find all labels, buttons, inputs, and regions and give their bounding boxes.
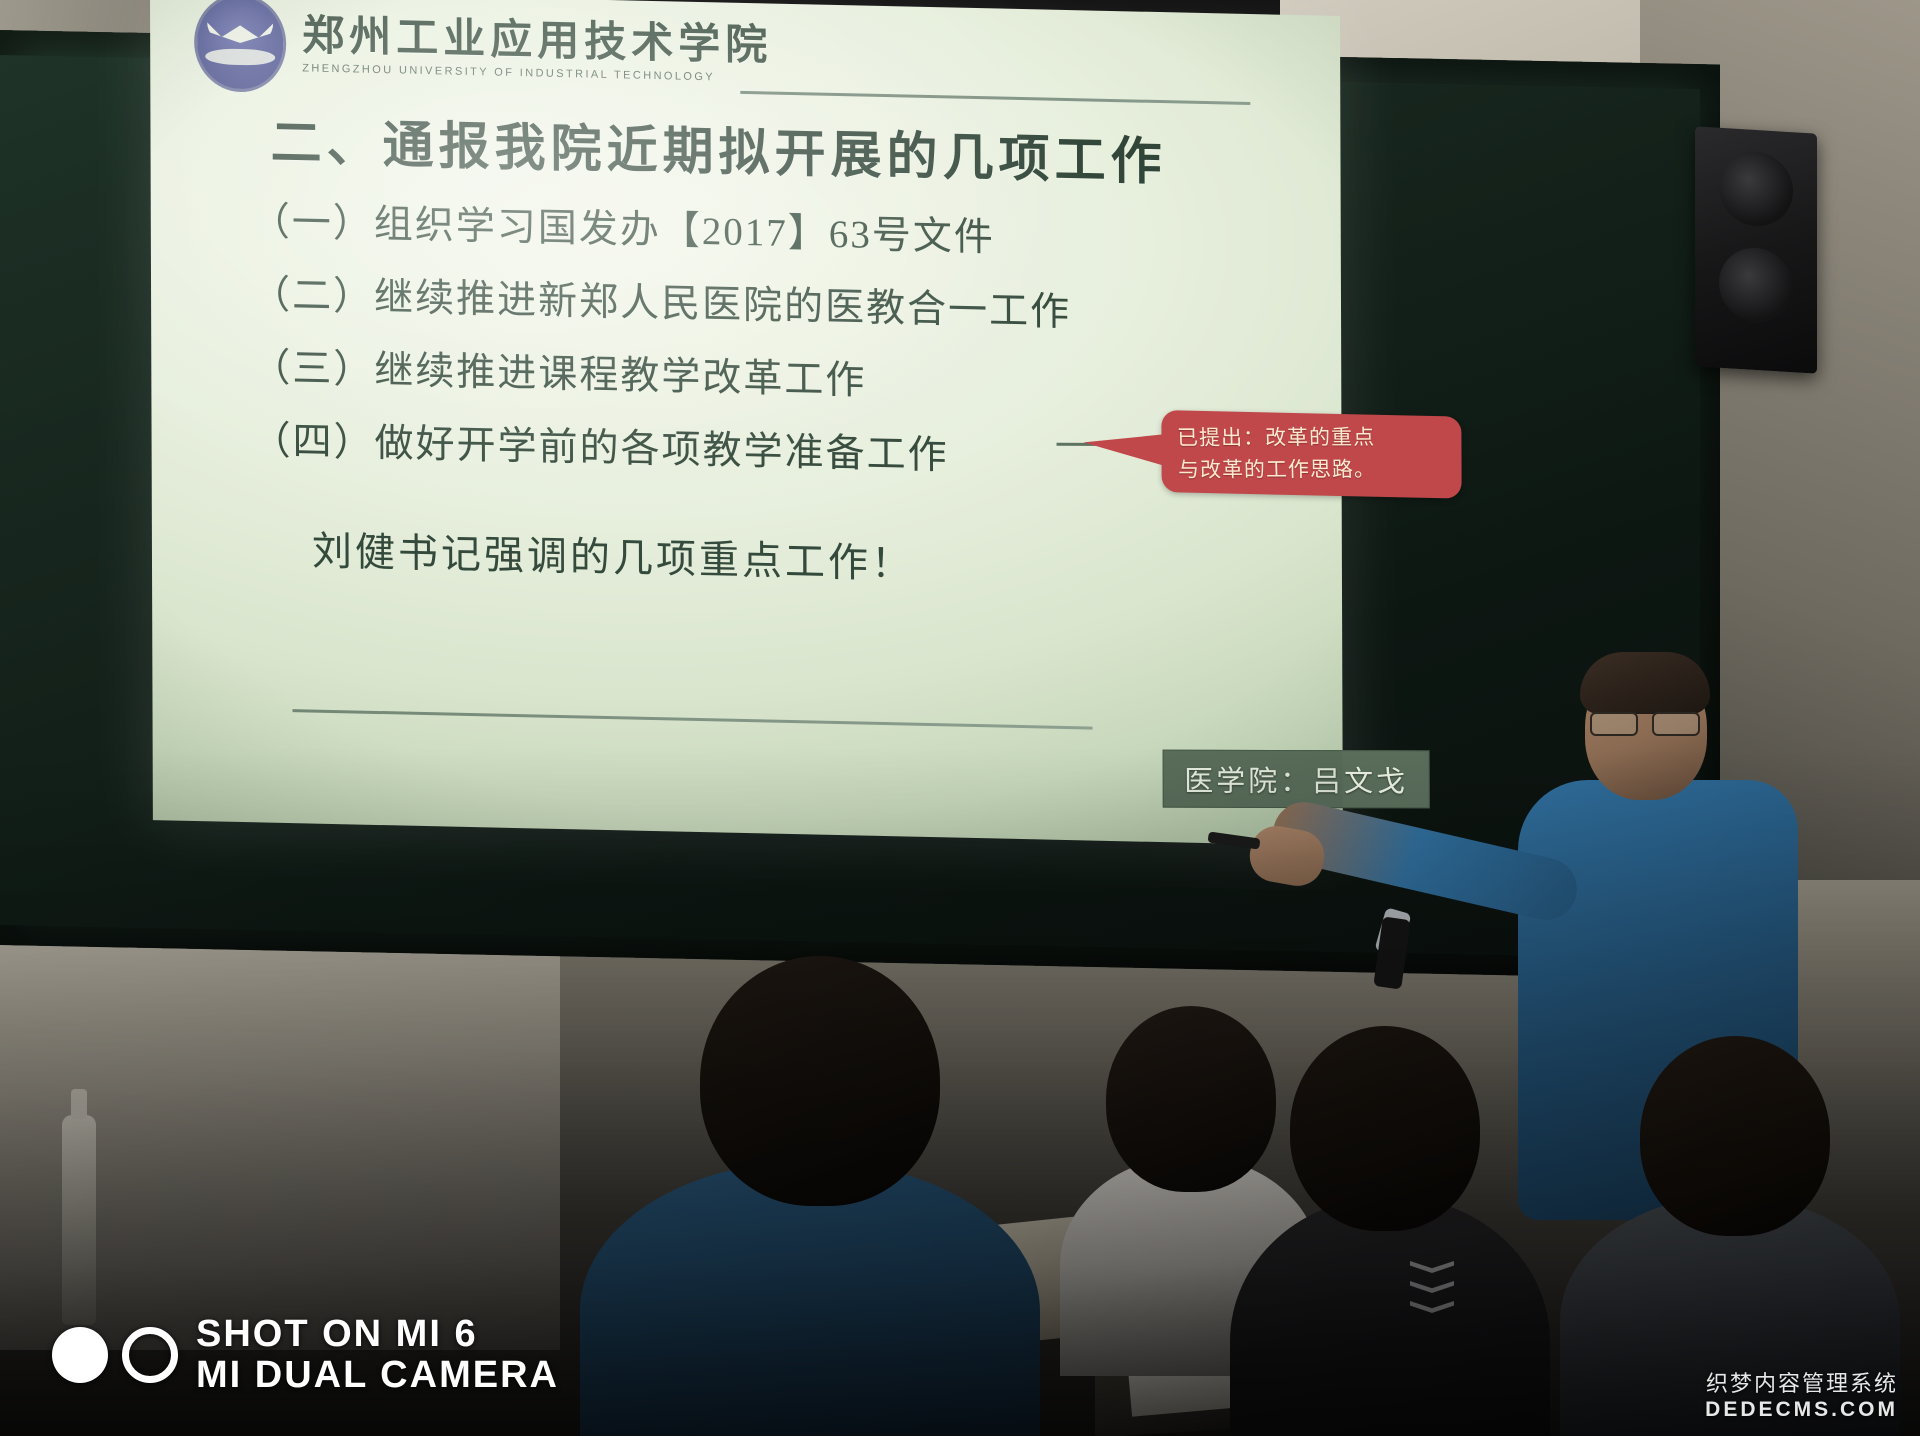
slide-closing-line: 刘健书记强调的几项重点工作！ xyxy=(312,519,914,590)
shot-on-line-2: MI DUAL CAMERA xyxy=(196,1355,559,1396)
eyeglasses-icon xyxy=(1590,712,1700,732)
slide-bullet-list: （一）组织学习国发办【2017】63号文件 （二）继续推进新郑人民医院的医教合一… xyxy=(251,202,1252,516)
university-seal-icon xyxy=(194,0,286,93)
projection-screen: 郑州工业应用技术学院 ZHENGZHOU UNIVERSITY OF INDUS… xyxy=(150,0,1343,846)
shot-on-text: SHOT ON MI 6 MI DUAL CAMERA xyxy=(196,1314,559,1396)
presenter-hair xyxy=(1580,652,1710,714)
chevron-pattern-icon xyxy=(1410,1261,1464,1331)
callout-tail xyxy=(1083,432,1165,466)
signature-plate: 医学院：吕文戈 xyxy=(1163,750,1430,809)
water-bottle xyxy=(62,1115,96,1325)
institution-name-cn: 郑州工业应用技术学院 xyxy=(302,15,772,69)
camera-lens-filled-icon xyxy=(52,1327,108,1383)
footer-divider xyxy=(292,709,1092,729)
callout-text: 已提出：改革的重点 与改革的工作思路。 xyxy=(1177,422,1453,486)
shot-on-line-1: SHOT ON MI 6 xyxy=(196,1314,559,1355)
audience-member-3 xyxy=(1230,1026,1550,1436)
audience-torso xyxy=(1230,1196,1550,1436)
audience-head xyxy=(700,956,940,1206)
callout-line-2: 与改革的工作思路。 xyxy=(1178,454,1453,486)
slide-bullet-2: （二）继续推进新郑人民医院的医教合一工作 xyxy=(251,275,1251,336)
header-divider xyxy=(740,91,1250,105)
camera-lens-ring-icon xyxy=(122,1327,178,1383)
audience-head xyxy=(1640,1036,1830,1236)
handwritten-callout: 已提出：改革的重点 与改革的工作思路。 xyxy=(1161,410,1461,499)
audience-member-4 xyxy=(1560,1036,1900,1396)
site-watermark: 织梦内容管理系统 DEDECMS.COM xyxy=(1705,1366,1898,1422)
slide-content: 郑州工业应用技术学院 ZHENGZHOU UNIVERSITY OF INDUS… xyxy=(150,0,1343,846)
signature-text: 医学院：吕文戈 xyxy=(1184,758,1408,801)
slide-header: 郑州工业应用技术学院 ZHENGZHOU UNIVERSITY OF INDUS… xyxy=(194,0,772,104)
slide-bullet-3: （三）继续推进课程教学改革工作 xyxy=(251,348,1251,409)
wall-speaker-icon xyxy=(1695,126,1817,373)
photograph-canvas: 郑州工业应用技术学院 ZHENGZHOU UNIVERSITY OF INDUS… xyxy=(0,0,1920,1436)
shot-on-watermark: SHOT ON MI 6 MI DUAL CAMERA xyxy=(52,1314,559,1396)
callout-line-1: 已提出：改革的重点 xyxy=(1177,422,1452,454)
slide-bullet-1: （一）组织学习国发办【2017】63号文件 xyxy=(251,202,1251,263)
site-watermark-en: DEDECMS.COM xyxy=(1705,1398,1898,1422)
dual-camera-icon xyxy=(52,1327,178,1383)
audience-head xyxy=(1290,1026,1480,1231)
audience-member-1 xyxy=(580,946,1040,1436)
site-watermark-cn: 织梦内容管理系统 xyxy=(1705,1366,1898,1398)
slide-title: 二、通报我院近期拟开展的几项工作 xyxy=(270,101,1166,195)
